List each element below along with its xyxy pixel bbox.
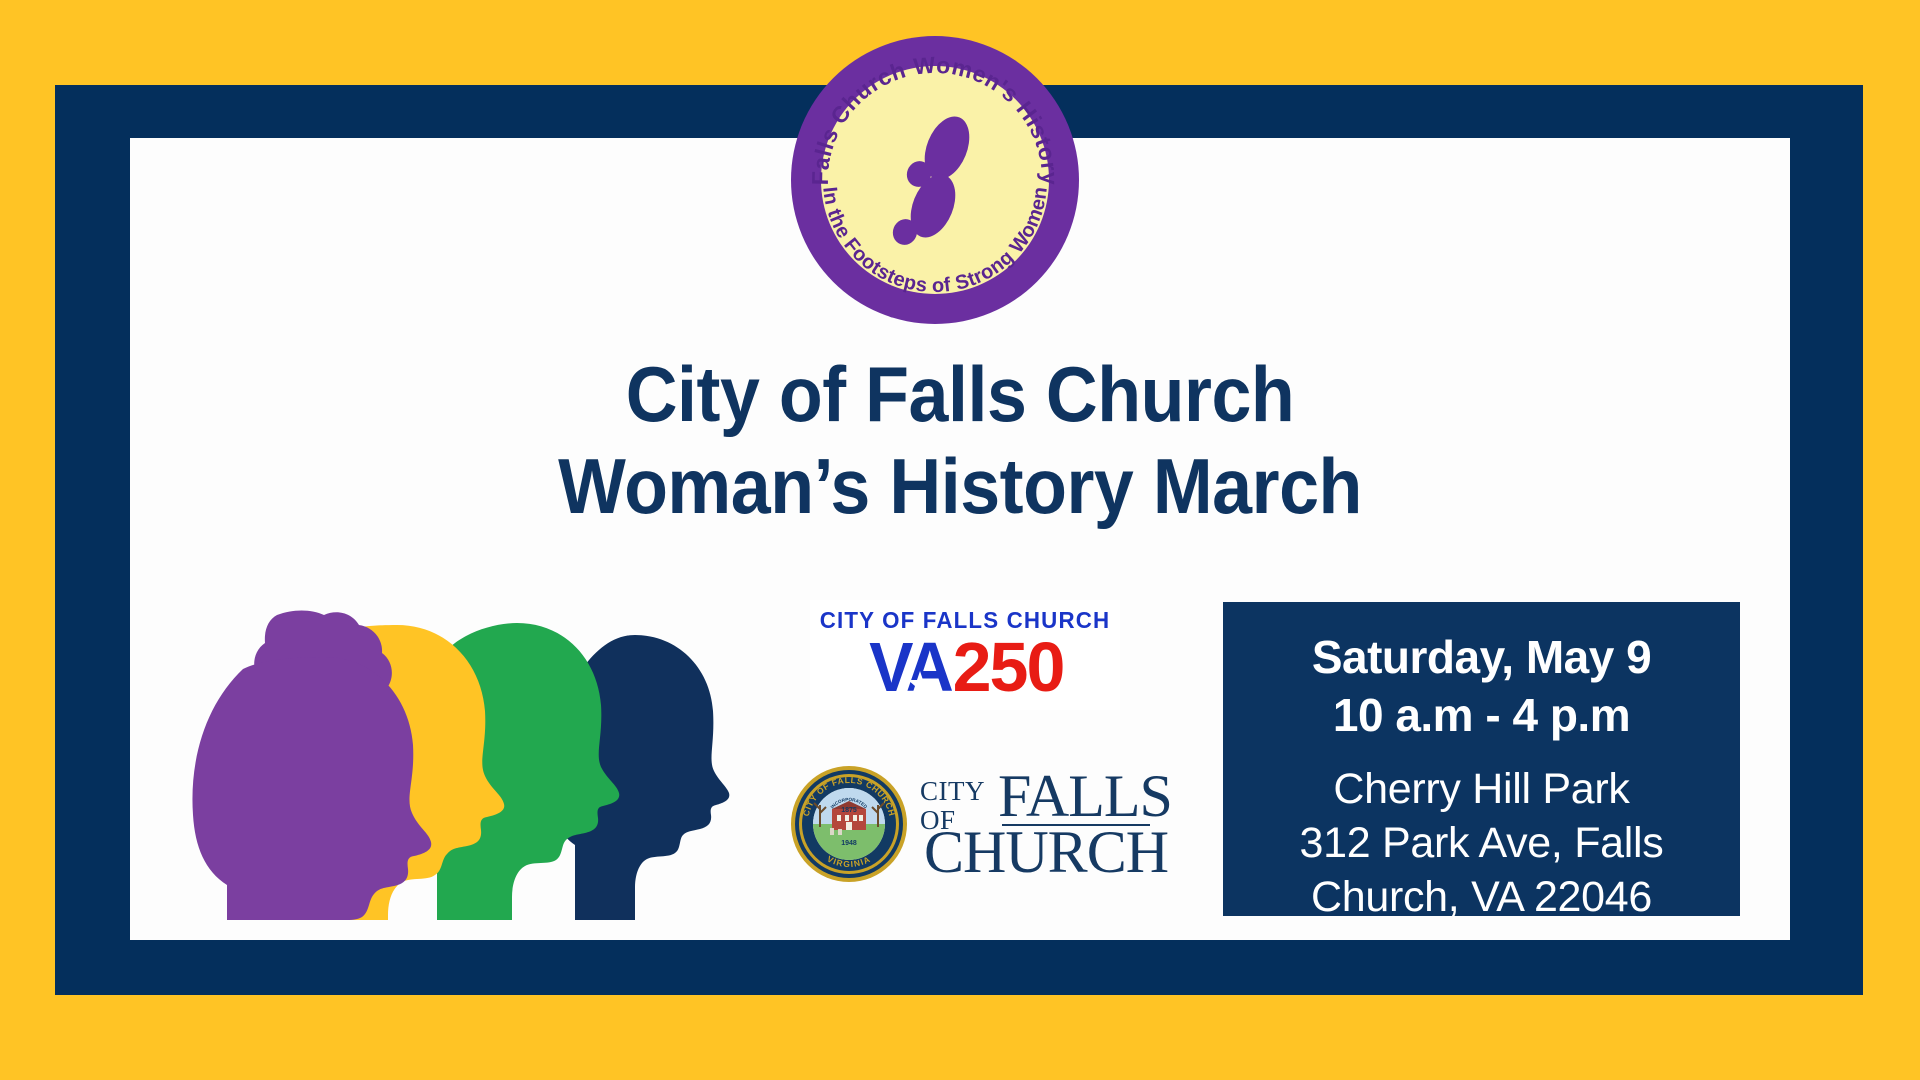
va250-logo: CITY OF FALLS CHURCH VA250 xyxy=(810,600,1120,710)
title-line-1: City of Falls Church xyxy=(196,348,1723,440)
event-address-line-1: 312 Park Ave, Falls xyxy=(1223,816,1740,870)
wordmark-city: CITY xyxy=(920,776,985,806)
seal-charter-year: 1948 xyxy=(841,840,857,847)
page-title: City of Falls Church Woman’s History Mar… xyxy=(130,348,1790,532)
poster-canvas: Falls Church Women's History In the Foot… xyxy=(0,0,1920,1080)
wordmark-church: CHURCH xyxy=(924,822,1168,882)
event-time: 10 a.m - 4 p.m xyxy=(1223,686,1740,744)
va250-number-text: 250 xyxy=(953,634,1064,700)
city-seal-icon: CITY OF FALLS CHURCH VIRGINIA INCORPORAT… xyxy=(790,765,908,883)
event-details-box: Saturday, May 9 10 a.m - 4 p.m Cherry Hi… xyxy=(1223,602,1740,916)
title-line-2: Woman’s History March xyxy=(196,440,1723,532)
womens-history-badge-logo: Falls Church Women's History In the Foot… xyxy=(790,35,1080,325)
event-venue: Cherry Hill Park xyxy=(1223,762,1740,816)
va250-main-line: VA250 xyxy=(810,634,1120,700)
event-date: Saturday, May 9 xyxy=(1223,628,1740,686)
seal-incorporated-year: 1875 xyxy=(841,807,857,814)
wordmark-falls: FALLS xyxy=(998,766,1172,826)
va250-top-line: CITY OF FALLS CHURCH xyxy=(815,600,1116,634)
event-address-line-2: Church, VA 22046 xyxy=(1223,870,1740,924)
women-silhouettes-illustration xyxy=(165,595,765,920)
city-of-falls-church-logo: CITY OF FALLS CHURCH VIRGINIA INCORPORAT… xyxy=(790,758,1160,890)
city-wordmark: CITY OF FALLS CHURCH xyxy=(920,764,1150,884)
